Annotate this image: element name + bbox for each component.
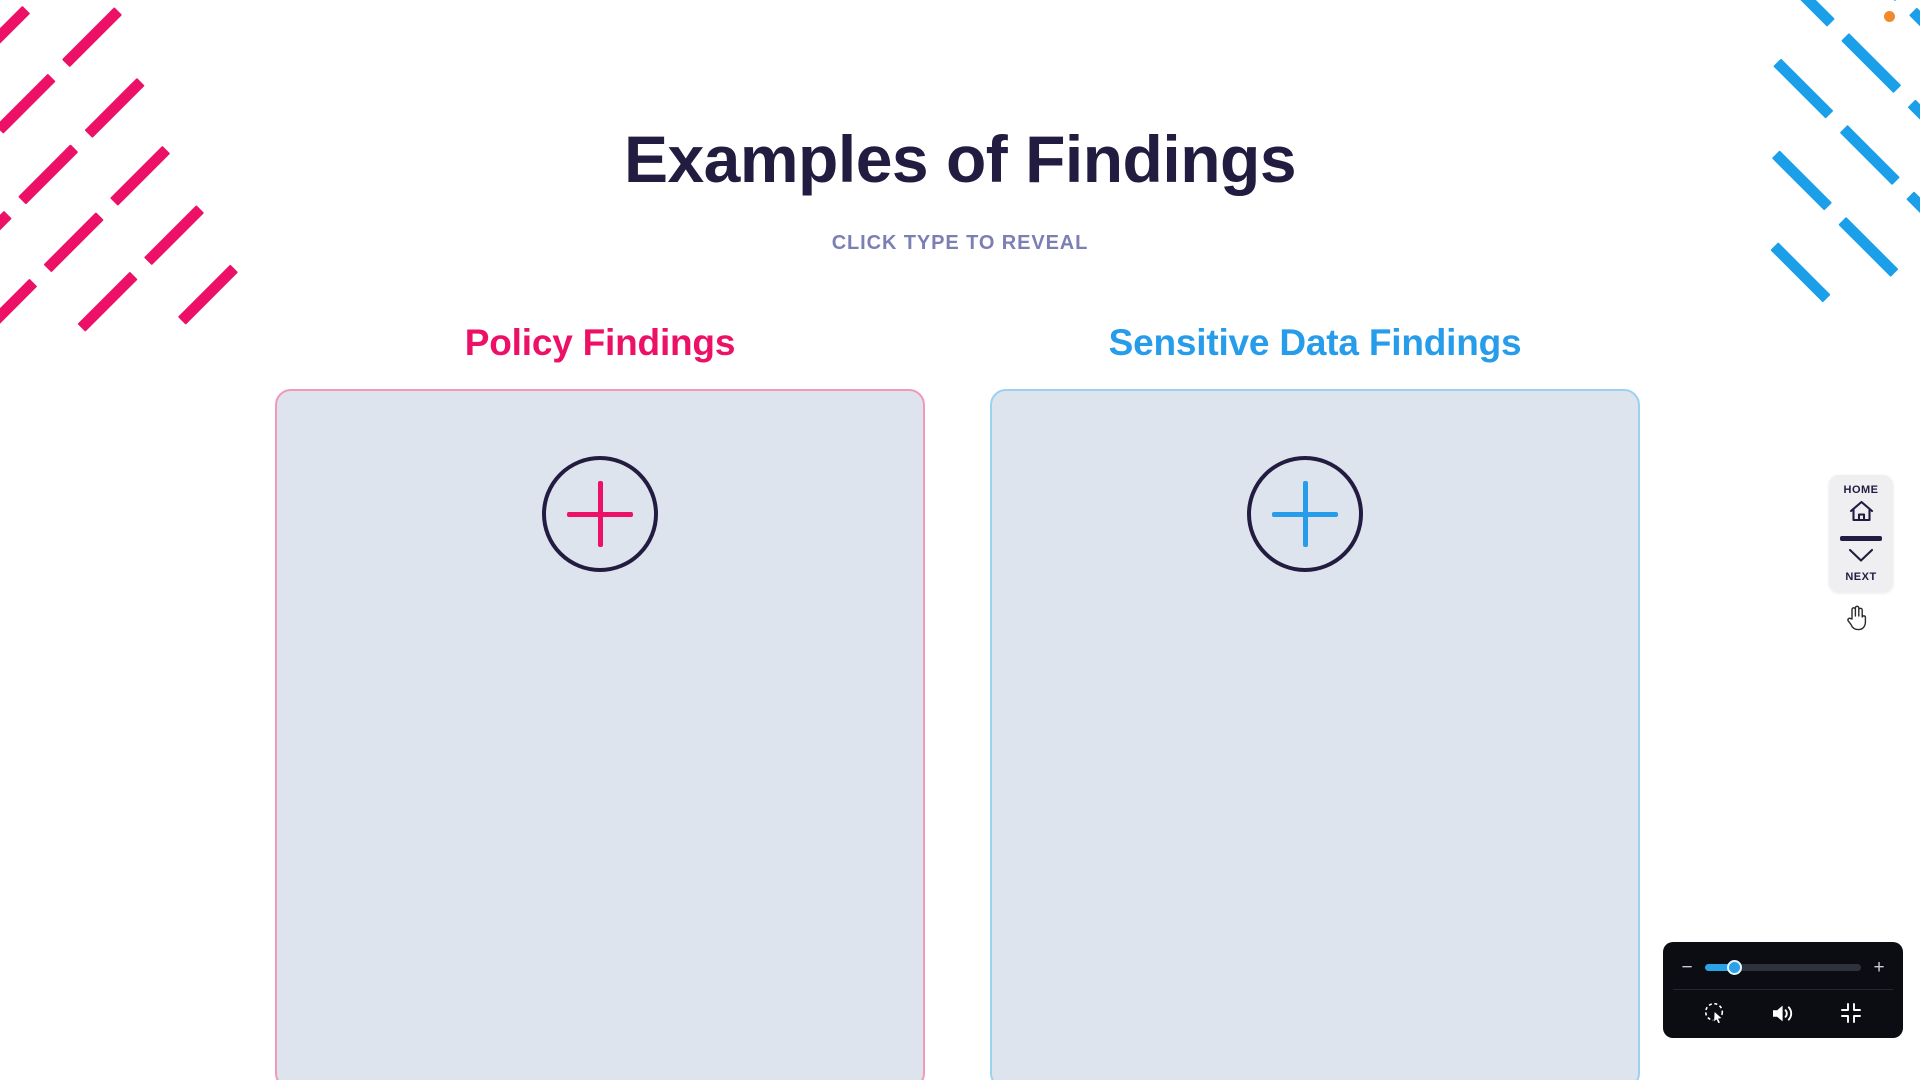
card-sensitive-data-findings[interactable] <box>990 389 1640 1080</box>
reveal-plus-button-policy[interactable] <box>542 456 658 572</box>
zoom-out-button[interactable]: − <box>1679 958 1695 977</box>
fullscreen-exit-icon[interactable] <box>1839 1001 1863 1025</box>
plus-icon <box>567 481 633 547</box>
zoom-slider-handle[interactable] <box>1727 960 1742 975</box>
column-sensitive-data-findings: Sensitive Data Findings <box>990 322 1640 1080</box>
pointing-hand-cursor <box>1844 603 1868 631</box>
accent-dot-icon <box>1884 11 1895 22</box>
page-subtitle: CLICK TYPE TO REVEAL <box>0 232 1920 255</box>
home-label: HOME <box>1844 484 1879 496</box>
home-icon[interactable] <box>1848 499 1875 528</box>
column-title-sensitive-data: Sensitive Data Findings <box>990 322 1640 364</box>
player-button-row <box>1677 990 1889 1030</box>
nav-divider <box>1840 536 1882 541</box>
navigation-widget: HOME NEXT <box>1829 475 1893 592</box>
card-policy-findings[interactable] <box>275 389 925 1080</box>
zoom-control-row: − + <box>1677 954 1889 989</box>
zoom-slider[interactable] <box>1705 964 1861 971</box>
column-policy-findings: Policy Findings <box>275 322 925 1080</box>
findings-columns: Policy Findings Sensitive Data Findings <box>275 322 1640 1080</box>
page-title: Examples of Findings <box>0 123 1920 197</box>
slide-canvas: Examples of Findings CLICK TYPE TO REVEA… <box>0 0 1920 1080</box>
plus-icon <box>1272 481 1338 547</box>
cursor-select-icon[interactable] <box>1703 1001 1727 1025</box>
column-title-policy: Policy Findings <box>275 322 925 364</box>
volume-icon[interactable] <box>1770 1002 1795 1025</box>
zoom-in-button[interactable]: + <box>1871 958 1887 977</box>
reveal-plus-button-sensitive-data[interactable] <box>1247 456 1363 572</box>
player-toolbar: − + <box>1663 942 1903 1038</box>
next-label: NEXT <box>1845 571 1876 583</box>
chevron-down-icon[interactable] <box>1847 547 1875 569</box>
